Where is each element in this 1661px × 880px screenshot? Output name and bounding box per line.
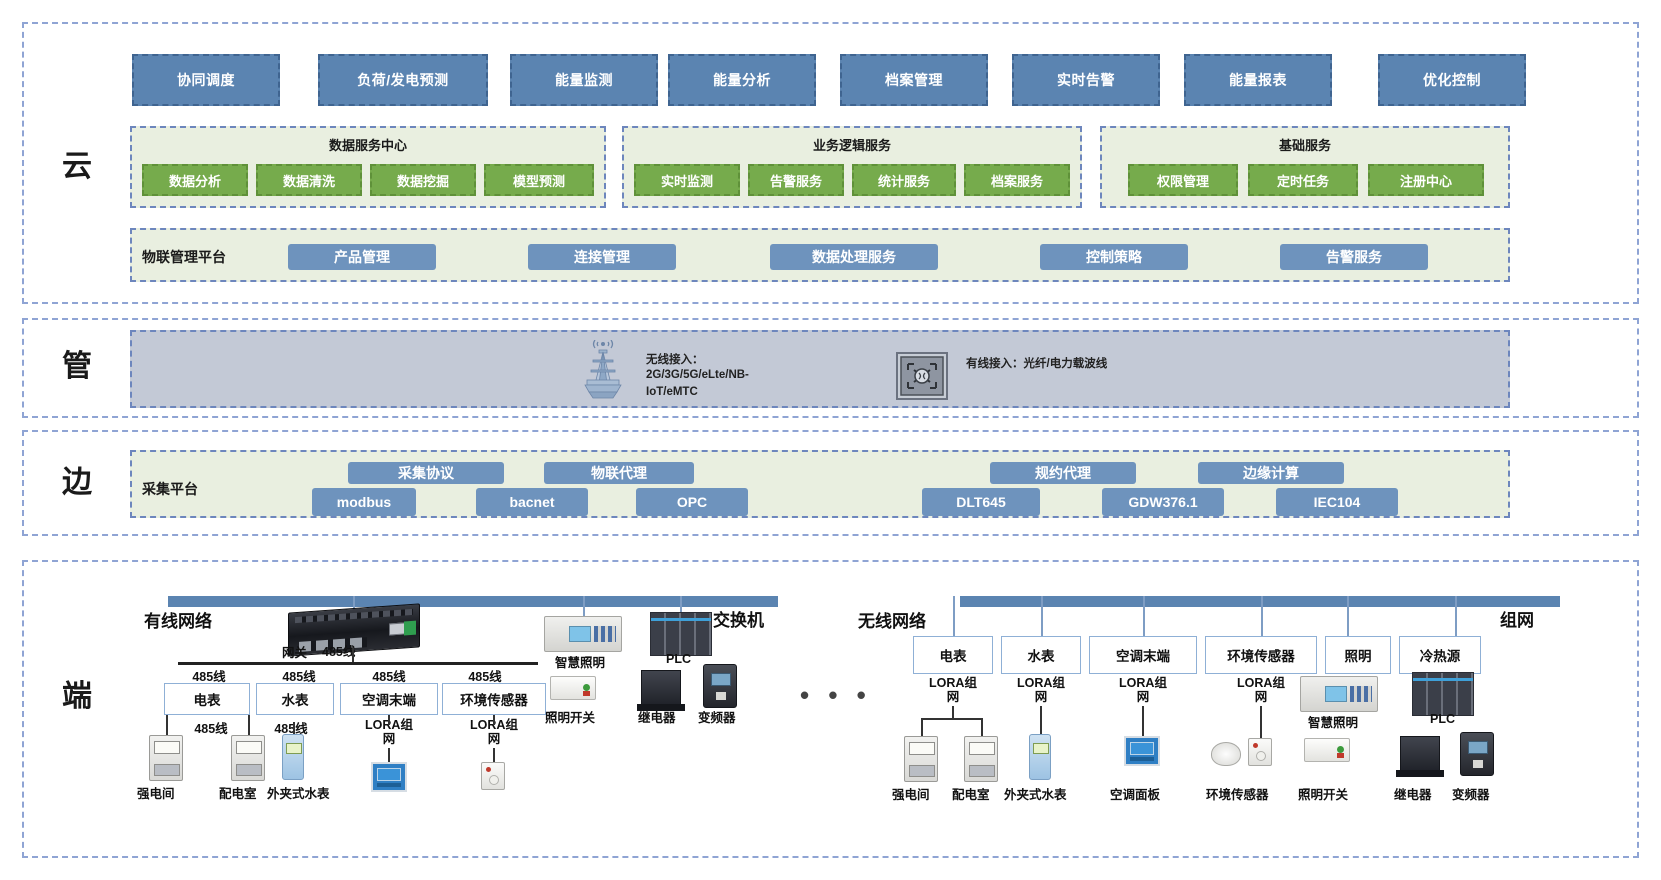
wireless-bus-bar: [960, 596, 1560, 607]
plc-icon-wireless: [1412, 672, 1474, 716]
wired-device-water-meter[interactable]: 水表: [256, 683, 334, 715]
relay-icon-wireless: [1400, 736, 1440, 774]
meter-drop-0: [166, 715, 168, 735]
edge-proto-gdw376[interactable]: GDW376.1: [1102, 488, 1224, 516]
clamp-on-water-meter-icon-2: [1029, 734, 1051, 780]
wired-caption-strong-electric-room: 强电间: [137, 783, 175, 802]
gateway-link-label: 485线: [322, 641, 355, 660]
wireless-device-env-sensor[interactable]: 环境传感器: [1205, 636, 1317, 674]
pipe-layer-letter: 管: [62, 352, 92, 382]
wired-lora-line-1b: [493, 748, 495, 762]
iot-item-control-strategy[interactable]: 控制策略: [1040, 244, 1188, 270]
wired-device-hvac-terminal[interactable]: 空调末端: [340, 683, 438, 715]
edge-proto-iec104[interactable]: IEC104: [1276, 488, 1398, 516]
wireless-access-detail: 2G/3G/5G/eLte/NB-IoT/eMTC: [646, 367, 762, 400]
edge-layer-letter: 边: [62, 468, 92, 498]
iot-item-product-mgmt[interactable]: 产品管理: [288, 244, 436, 270]
cloud-app-0[interactable]: 协同调度: [132, 54, 280, 106]
wireless-caption-relay: 继电器: [1394, 784, 1432, 803]
wired-bus-bar: [168, 596, 778, 607]
wireless-caption-lighting-switch: 照明开关: [1298, 784, 1348, 803]
electric-meter-icon-3: [964, 736, 998, 782]
cloud-app-2[interactable]: 能量监测: [510, 54, 658, 106]
service-item-permission[interactable]: 权限管理: [1128, 164, 1238, 196]
collection-platform-label: 采集平台: [142, 479, 198, 499]
cloud-layer-letter: 云: [62, 152, 92, 182]
wireless-hvac-drop: [1142, 706, 1144, 736]
wireless-caption-clamp-water-meter: 外夹式水表: [1004, 784, 1067, 803]
edge-proto-dlt645[interactable]: DLT645: [922, 488, 1040, 516]
gateway-label: 网关: [282, 642, 307, 661]
service-item-data-mining[interactable]: 数据挖掘: [370, 164, 476, 196]
wireless-device-electric-meter[interactable]: 电表: [913, 636, 993, 674]
wired-side-vfd: 变频器: [698, 707, 736, 726]
smart-lighting-icon-wireless: [1300, 676, 1378, 712]
wireless-meter-bracket: [921, 718, 983, 720]
wired-lora-line-1: [493, 715, 495, 725]
wireless-water-drop: [1040, 706, 1042, 734]
wired-lora-line-0: [388, 715, 390, 725]
wireless-side-smart-lighting: 智慧照明: [1308, 712, 1358, 731]
gateway-to-bus-line: [352, 648, 354, 662]
vfd-icon-wireless: [1460, 732, 1494, 776]
wired-caption-clamp-water-meter: 外夹式水表: [267, 783, 330, 802]
service-item-alarm-service[interactable]: 告警服务: [748, 164, 844, 196]
edge-proto-opc[interactable]: OPC: [636, 488, 748, 516]
electric-meter-icon-0: [149, 735, 183, 781]
wired-caption-distribution-room: 配电室: [219, 783, 257, 802]
wireless-caption-vfd: 变频器: [1452, 784, 1490, 803]
wireless-lora-label-2: LORA组网: [1115, 676, 1171, 705]
wired-side-lighting-switch: 照明开关: [545, 707, 595, 726]
service-item-archive-service[interactable]: 档案服务: [964, 164, 1070, 196]
service-item-model-prediction[interactable]: 模型预测: [484, 164, 594, 196]
wireless-sensor-drop: [1260, 706, 1262, 738]
relay-icon-wired: [641, 670, 681, 708]
service-group-title: 基础服务: [1102, 135, 1508, 154]
cloud-app-1[interactable]: 负荷/发电预测: [318, 54, 488, 106]
lighting-switch-icon-wired: [550, 676, 596, 700]
plc-icon-wired: [650, 612, 712, 656]
service-item-data-cleaning[interactable]: 数据清洗: [256, 164, 362, 196]
hvac-panel-icon-wireless: [1124, 736, 1160, 766]
env-sensor-icon-wired: [481, 762, 505, 790]
pipe-inner-panel: [130, 330, 1510, 408]
edge-tag-protocol-agent[interactable]: 规约代理: [990, 462, 1136, 484]
service-item-registry[interactable]: 注册中心: [1368, 164, 1484, 196]
wireless-caption-hvac-panel: 空调面板: [1110, 784, 1160, 803]
wireless-caption-distribution-room: 配电室: [952, 784, 990, 803]
service-group-title: 数据服务中心: [132, 135, 604, 154]
vfd-icon-wired: [703, 664, 737, 708]
wireless-caption-strong-electric-room: 强电间: [892, 784, 930, 803]
section-ellipsis: • • •: [800, 680, 872, 711]
env-sensor-icon-wireless: [1248, 738, 1272, 766]
cloud-app-6[interactable]: 能量报表: [1184, 54, 1332, 106]
electric-meter-icon-2: [904, 736, 938, 782]
wireless-network-title: 无线网络: [858, 607, 926, 632]
wireless-meter-drop-0: [921, 718, 923, 736]
smart-lighting-icon-wired: [544, 616, 622, 652]
edge-tag-iot-agent[interactable]: 物联代理: [544, 462, 694, 484]
wireless-meter-bracket-stem: [952, 706, 954, 718]
wireless-lora-label-0: LORA组网: [925, 676, 981, 705]
edge-tag-edge-computing[interactable]: 边缘计算: [1198, 462, 1344, 484]
switch-label: 交换机: [713, 606, 764, 631]
service-item-data-analysis[interactable]: 数据分析: [142, 164, 248, 196]
iot-item-data-process[interactable]: 数据处理服务: [770, 244, 938, 270]
wired-lora-line-0b: [388, 748, 390, 762]
wireless-device-cooling-heating[interactable]: 冷热源: [1399, 636, 1481, 674]
edge-proto-bacnet[interactable]: bacnet: [476, 488, 588, 516]
edge-tag-collection-protocol[interactable]: 采集协议: [348, 462, 504, 484]
wired-side-plc: PLC: [666, 652, 691, 666]
iot-item-alarm-service[interactable]: 告警服务: [1280, 244, 1428, 270]
meter-drop-1: [248, 715, 250, 735]
lighting-switch-icon-wireless: [1304, 738, 1350, 762]
service-item-realtime-monitor[interactable]: 实时监测: [634, 164, 740, 196]
water-meter-drop: [293, 722, 295, 734]
wireless-caption-env-sensor: 环境传感器: [1206, 784, 1269, 803]
service-item-scheduled-task[interactable]: 定时任务: [1248, 164, 1358, 196]
wireless-networking-label: 组网: [1500, 606, 1534, 631]
iot-item-connection-mgmt[interactable]: 连接管理: [528, 244, 676, 270]
service-item-statistics-service[interactable]: 统计服务: [852, 164, 956, 196]
clamp-on-water-meter-icon: [282, 734, 304, 780]
wired-device-env-sensor[interactable]: 环境传感器: [442, 683, 546, 715]
edge-proto-modbus[interactable]: modbus: [312, 488, 416, 516]
wired-network-icon: [896, 352, 948, 400]
wireless-device-lighting[interactable]: 照明: [1325, 636, 1391, 674]
cloud-app-5[interactable]: 实时告警: [1012, 54, 1160, 106]
wired-side-relay: 继电器: [638, 707, 676, 726]
wireless-side-plc: PLC: [1430, 712, 1455, 726]
electric-meter-icon-1: [231, 735, 265, 781]
cloud-app-7[interactable]: 优化控制: [1378, 54, 1526, 106]
iot-platform-label: 物联管理平台: [142, 247, 226, 267]
smoke-sensor-icon: [1211, 742, 1241, 766]
wired-network-title: 有线网络: [144, 607, 212, 632]
wired-device-electric-meter[interactable]: 电表: [164, 683, 250, 715]
device-layer-letter: 端: [62, 682, 92, 712]
wired-side-smart-lighting: 智慧照明: [555, 652, 605, 671]
wired-485-bus: [178, 662, 538, 665]
hvac-panel-icon-wired: [371, 762, 407, 792]
wired-access-text: 有线接入：光纤/电力载波线: [966, 356, 1134, 373]
service-group-title: 业务逻辑服务: [624, 135, 1080, 154]
wireless-lora-label-3: LORA组网: [1233, 676, 1289, 705]
wireless-meter-drop-1: [981, 718, 983, 736]
wireless-device-water-meter[interactable]: 水表: [1001, 636, 1081, 674]
cloud-app-4[interactable]: 档案管理: [840, 54, 988, 106]
cloud-app-3[interactable]: 能量分析: [668, 54, 816, 106]
cell-tower-icon: [575, 340, 631, 400]
architecture-diagram: 云 协同调度 负荷/发电预测 能量监测 能量分析 档案管理 实时告警 能量报表 …: [0, 0, 1661, 880]
wireless-device-hvac-terminal[interactable]: 空调末端: [1089, 636, 1197, 674]
smartlight-bus-drop: [583, 596, 585, 618]
wireless-lora-label-1: LORA组网: [1013, 676, 1069, 705]
